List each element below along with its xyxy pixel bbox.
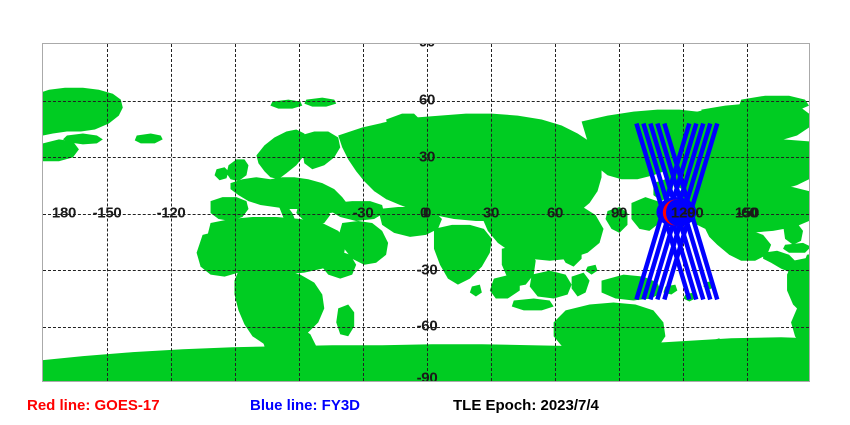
legend-red-line-goes17: Red line: GOES-17	[27, 397, 160, 414]
new-guinea	[602, 275, 662, 301]
madagascar	[336, 304, 354, 336]
india	[434, 225, 492, 285]
greenland-west-wrap	[43, 88, 123, 136]
usa-east-florida	[783, 223, 803, 245]
alaska-wrap-left	[43, 139, 79, 161]
island-speck-d	[703, 281, 715, 290]
british-isles	[227, 159, 249, 181]
world-map-plot: -30 0 30 60 90 120 150 180 -150 -120 -90…	[42, 43, 810, 382]
sri-lanka	[470, 285, 482, 297]
korea-japan-a	[606, 207, 628, 233]
sulawesi	[572, 273, 590, 297]
western-europe	[231, 177, 349, 213]
iceland	[135, 133, 163, 143]
turkey-caucasus	[330, 201, 384, 221]
java	[512, 298, 554, 310]
mexico	[705, 227, 771, 261]
legend-blue-line-fy3d: Blue line: FY3D	[250, 397, 360, 414]
antarctica	[43, 337, 809, 381]
sumatra	[490, 275, 520, 299]
continents-group	[43, 88, 809, 381]
finland-baltic	[300, 131, 340, 169]
japan-north	[653, 179, 673, 201]
iran-central-asia	[378, 207, 442, 237]
island-speck-a	[586, 265, 598, 275]
ireland	[215, 167, 229, 180]
svalbard	[270, 100, 302, 109]
satellite-coverage-map-page: -30 0 30 60 90 120 150 180 -150 -120 -90…	[0, 0, 850, 425]
svalbard-b	[304, 98, 336, 107]
china-east-asia	[482, 197, 604, 261]
map-legend: Red line: GOES-17 Blue line: FY3D TLE Ep…	[0, 393, 850, 425]
borneo	[530, 271, 572, 299]
philippines	[560, 241, 582, 267]
island-speck-b	[663, 285, 677, 295]
legend-tle-epoch: TLE Epoch: 2023/7/4	[453, 397, 599, 414]
japan-honshu	[631, 197, 663, 231]
caribbean-cuba	[783, 243, 809, 253]
iberia	[211, 197, 249, 221]
island-speck-c	[683, 293, 695, 302]
world-landmass-layer	[43, 44, 809, 381]
